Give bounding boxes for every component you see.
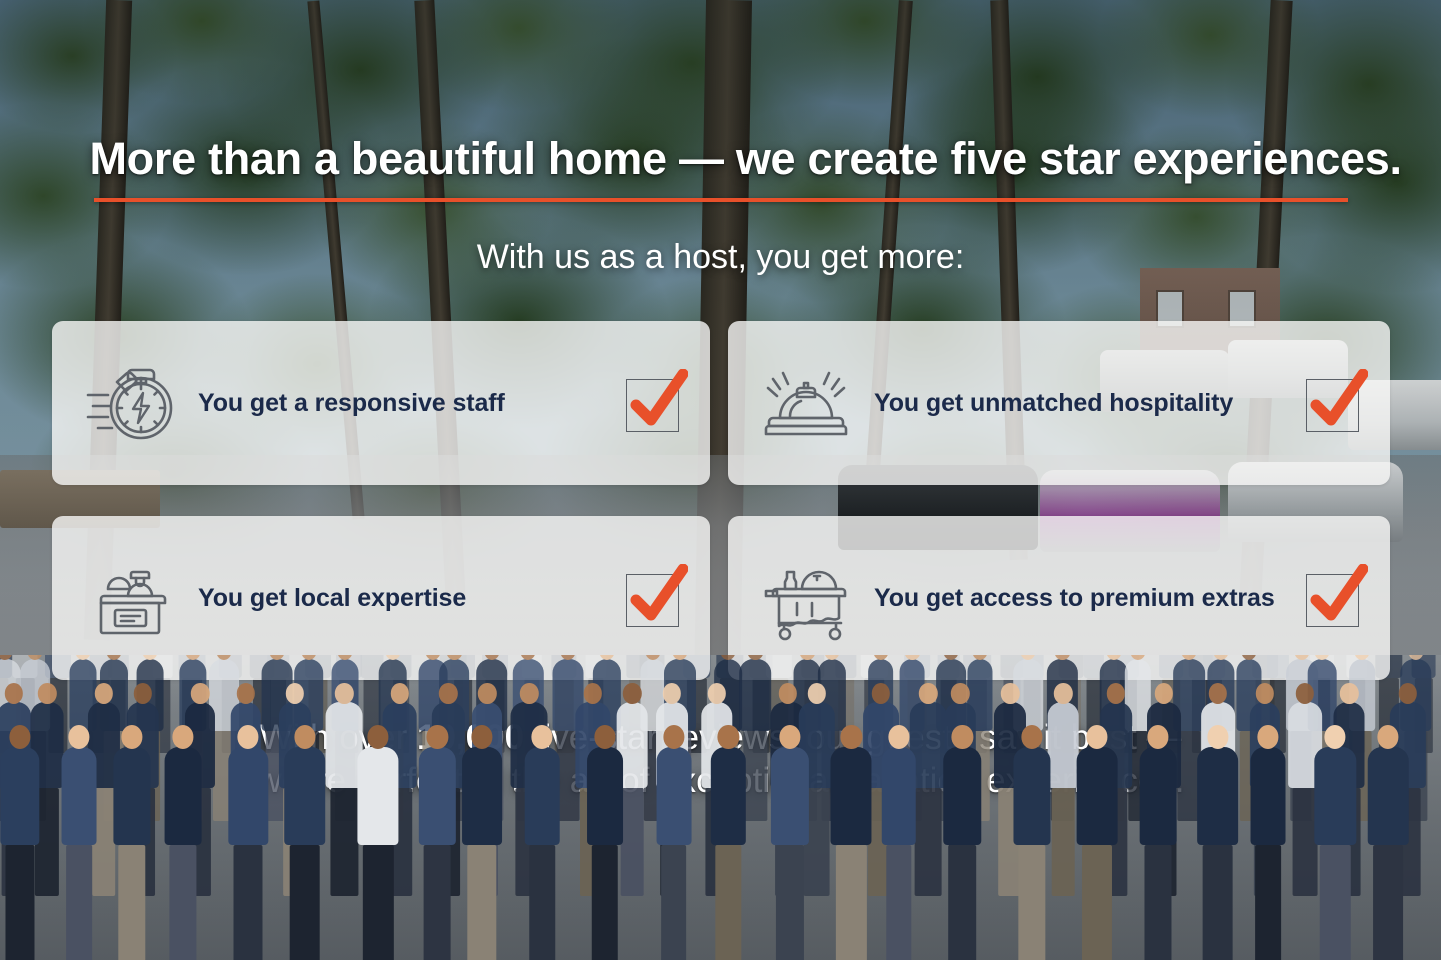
crowd-person: [524, 725, 560, 960]
room-service-cart-icon: [754, 555, 858, 641]
check-icon: [624, 564, 688, 626]
crowd-person: [1139, 725, 1178, 960]
crowd-person: [228, 725, 269, 960]
crowd-person: [1367, 725, 1410, 960]
crowd-person: [357, 725, 400, 960]
crowd-person: [943, 725, 982, 960]
benefit-card-responsive-staff[interactable]: You get a responsive staff: [52, 321, 710, 485]
crowd-person: [0, 725, 41, 960]
checkbox-checked[interactable]: [1306, 373, 1362, 433]
crowd-person: [283, 725, 327, 960]
page-headline: More than a beautiful home — we create f…: [90, 134, 1352, 184]
benefit-card-unmatched-hospitality[interactable]: You get unmatched hospitality: [728, 321, 1390, 485]
crowd-person: [112, 725, 151, 960]
check-icon: [624, 369, 688, 431]
page-subheadline: With us as a host, you get more:: [221, 238, 1221, 277]
crowd-person: [710, 725, 746, 960]
crowd-person: [1313, 725, 1357, 960]
crowd-person: [60, 725, 97, 960]
crowd-person: [1075, 725, 1118, 960]
check-icon: [1304, 369, 1368, 431]
crowd-person: [770, 725, 810, 960]
crowd-person: [1196, 725, 1240, 960]
crowd-person: [1250, 725, 1287, 960]
crowd-person: [163, 725, 202, 960]
checkbox-checked[interactable]: [626, 568, 682, 628]
checkbox-checked[interactable]: [626, 373, 682, 433]
crowd-person: [1013, 725, 1052, 960]
crowd-person: [830, 725, 873, 960]
concierge-desk-icon: [78, 555, 182, 641]
headline-underline-rule: [94, 198, 1348, 202]
benefit-card-label: You get a responsive staff: [182, 389, 626, 418]
benefit-card-label: You get unmatched hospitality: [858, 389, 1306, 418]
check-icon: [1304, 564, 1368, 626]
benefit-card-label: You get access to premium extras: [858, 584, 1306, 613]
stopwatch-speed-icon: [78, 360, 182, 446]
crowd-person: [880, 725, 916, 960]
crowd-person: [418, 725, 456, 960]
checkbox-checked[interactable]: [1306, 568, 1362, 628]
crowd-person: [586, 725, 624, 960]
service-bell-icon: [754, 360, 858, 446]
crowd-person: [655, 725, 692, 960]
crowd-person: [461, 725, 503, 960]
benefit-card-label: You get local expertise: [182, 584, 626, 613]
benefit-card-grid: You get a responsive staff: [52, 321, 1390, 680]
